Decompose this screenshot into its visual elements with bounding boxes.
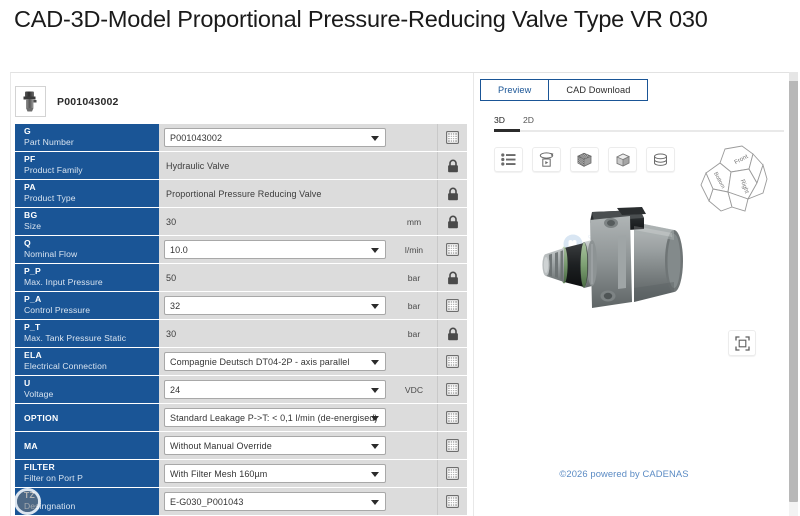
dropdown-p_a[interactable]: 32 <box>164 296 386 315</box>
page-root: CAD-3D-Model Proportional Pressure-Reduc… <box>0 0 800 516</box>
chevron-down-icon[interactable] <box>371 136 379 141</box>
unit-label <box>391 180 437 207</box>
param-code: OPTION <box>24 405 58 431</box>
chevron-down-icon[interactable] <box>371 388 379 393</box>
param-description: Nominal Flow <box>24 249 159 260</box>
table-grid-icon[interactable] <box>437 376 467 403</box>
dropdown-value: 10.0 <box>170 245 188 255</box>
chevron-down-icon[interactable] <box>371 360 379 365</box>
dropdown-value: 32 <box>170 301 180 311</box>
row-value-cell: 32 <box>159 292 391 319</box>
table-grid-icon[interactable] <box>437 404 467 431</box>
table-row: TZDesingnationE-G030_P001043 <box>15 488 467 516</box>
table-grid-icon[interactable] <box>437 348 467 375</box>
table-row: UVoltage24VDC <box>15 376 467 404</box>
table-row: GPart NumberP001043002 <box>15 124 467 152</box>
row-value-cell: P001043002 <box>159 124 391 151</box>
row-label-option: OPTION <box>15 404 159 431</box>
table-row: MAWithout Manual Override <box>15 432 467 460</box>
param-code: P_A <box>24 294 159 305</box>
unit-label: VDC <box>391 376 437 403</box>
row-label-u: UVoltage <box>15 376 159 403</box>
table-row: PFProduct FamilyHydraulic Valve <box>15 152 467 180</box>
table-row: PAProduct TypeProportional Pressure Redu… <box>15 180 467 208</box>
chevron-down-icon[interactable] <box>371 472 379 477</box>
unit-label: mm <box>391 208 437 235</box>
param-description: Voltage <box>24 389 159 400</box>
row-label-tz: TZDesingnation <box>15 488 159 515</box>
dropdown-u[interactable]: 24 <box>164 380 386 399</box>
textured-cube-icon[interactable] <box>570 147 599 172</box>
row-value-cell: Hydraulic Valve <box>159 152 391 179</box>
row-value-cell: With Filter Mesh 160µm <box>159 460 391 487</box>
scrollbar-thumb[interactable] <box>789 72 798 502</box>
unit-label: bar <box>391 292 437 319</box>
param-code: MA <box>24 433 38 459</box>
parameter-table: GPart NumberP001043002PFProduct FamilyHy… <box>15 124 467 516</box>
param-code: P_T <box>24 322 159 333</box>
row-label-filter: FILTERFilter on Port P <box>15 460 159 487</box>
dropdown-filter[interactable]: With Filter Mesh 160µm <box>164 464 386 483</box>
table-row: ELAElectrical ConnectionCompagnie Deutsc… <box>15 348 467 376</box>
row-value-cell: 30 <box>159 208 391 235</box>
row-value-cell: Proportional Pressure Reducing Valve <box>159 180 391 207</box>
subtab-active-indicator <box>494 129 520 132</box>
row-value-cell: Compagnie Deutsch DT04-2P - axis paralle… <box>159 348 391 375</box>
dropdown-value: P001043002 <box>170 133 222 143</box>
unit-label: bar <box>391 320 437 347</box>
param-description: Control Pressure <box>24 305 159 316</box>
chevron-down-icon[interactable] <box>371 304 379 309</box>
content-area: P001043002 GPart NumberP001043002PFProdu… <box>10 72 790 516</box>
dropdown-ela[interactable]: Compagnie Deutsch DT04-2P - axis paralle… <box>164 352 386 371</box>
page-scrollbar[interactable] <box>789 72 798 516</box>
tab-cad-download[interactable]: CAD Download <box>548 80 647 100</box>
table-grid-icon[interactable] <box>437 432 467 459</box>
row-value-cell: 30 <box>159 320 391 347</box>
table-grid-icon[interactable] <box>437 460 467 487</box>
param-description: Max. Tank Pressure Static <box>24 333 159 344</box>
readonly-value: Proportional Pressure Reducing Valve <box>164 189 322 199</box>
table-row: P_PMax. Input Pressure50bar <box>15 264 467 292</box>
subtab-underline <box>494 130 784 132</box>
viewer-toolbar <box>494 147 675 172</box>
valve-part-icon <box>15 86 46 117</box>
viewer-subtabs: 3D 2D <box>486 115 781 128</box>
row-label-pf: PFProduct Family <box>15 152 159 179</box>
table-row: FILTERFilter on Port PWith Filter Mesh 1… <box>15 460 467 488</box>
unit-label <box>391 404 437 431</box>
param-description: Size <box>24 221 159 232</box>
param-code: Q <box>24 238 159 249</box>
preview-panel: Preview CAD Download 3D 2D <box>473 73 791 516</box>
subtab-3d[interactable]: 3D <box>494 115 505 128</box>
dropdown-q[interactable]: 10.0 <box>164 240 386 259</box>
lock-icon <box>437 152 467 179</box>
param-description: Electrical Connection <box>24 361 159 372</box>
row-value-cell: 10.0 <box>159 236 391 263</box>
row-label-p_p: P_PMax. Input Pressure <box>15 264 159 291</box>
table-row: P_AControl Pressure32bar <box>15 292 467 320</box>
dropdown-tz[interactable]: E-G030_P001043 <box>164 492 386 511</box>
subtab-2d[interactable]: 2D <box>523 115 534 128</box>
param-description: Product Type <box>24 193 159 204</box>
row-value-cell: 24 <box>159 376 391 403</box>
part-number-label: P001043002 <box>57 96 119 108</box>
table-grid-icon[interactable] <box>437 236 467 263</box>
row-label-p_a: P_AControl Pressure <box>15 292 159 319</box>
dropdown-value: With Filter Mesh 160µm <box>170 469 267 479</box>
param-description: Filter on Port P <box>24 473 159 484</box>
viewer-tabs: Preview CAD Download <box>480 79 648 101</box>
lock-icon <box>437 320 467 347</box>
dropdown-value: 24 <box>170 385 180 395</box>
table-row: OPTIONStandard Leakage P->T: < 0,1 l/min… <box>15 404 467 432</box>
lock-icon <box>437 208 467 235</box>
part-header: P001043002 <box>15 86 119 117</box>
row-value-cell: 50 <box>159 264 391 291</box>
chevron-down-icon[interactable] <box>371 248 379 253</box>
param-code: PA <box>24 182 159 193</box>
unit-label <box>391 348 437 375</box>
param-code: G <box>24 126 159 137</box>
valve-3d-model[interactable] <box>522 196 732 331</box>
scroll-up-arrow[interactable] <box>789 72 798 81</box>
model-viewport[interactable]: QUALITY MARK MC <box>474 178 792 408</box>
param-code: ELA <box>24 350 159 361</box>
table-row: P_TMax. Tank Pressure Static30bar <box>15 320 467 348</box>
readonly-value: 30 <box>164 329 176 339</box>
row-label-pa: PAProduct Type <box>15 180 159 207</box>
dropdown-value: Standard Leakage P->T: < 0,1 l/min (de-e… <box>170 413 378 423</box>
lock-icon <box>437 264 467 291</box>
rotate-animation-icon[interactable] <box>532 147 561 172</box>
dropdown-ma[interactable]: Without Manual Override <box>164 436 386 455</box>
table-grid-icon[interactable] <box>437 124 467 151</box>
param-description: Max. Input Pressure <box>24 277 159 288</box>
param-description: Product Family <box>24 165 159 176</box>
table-row: QNominal Flow10.0l/min <box>15 236 467 264</box>
row-label-ela: ELAElectrical Connection <box>15 348 159 375</box>
dropdown-value: Compagnie Deutsch DT04-2P - axis paralle… <box>170 357 350 367</box>
param-description: Part Number <box>24 137 159 148</box>
row-label-g: GPart Number <box>15 124 159 151</box>
row-label-p_t: P_TMax. Tank Pressure Static <box>15 320 159 347</box>
dropdown-g[interactable]: P001043002 <box>164 128 386 147</box>
row-value-cell: E-G030_P001043 <box>159 488 391 515</box>
dropdown-option[interactable]: Standard Leakage P->T: < 0,1 l/min (de-e… <box>164 408 386 427</box>
unit-label: l/min <box>391 236 437 263</box>
solid-cube-icon[interactable] <box>608 147 637 172</box>
row-label-q: QNominal Flow <box>15 236 159 263</box>
list-icon[interactable] <box>494 147 523 172</box>
page-title: CAD-3D-Model Proportional Pressure-Reduc… <box>14 4 776 34</box>
param-code: FILTER <box>24 462 159 473</box>
table-grid-icon[interactable] <box>437 292 467 319</box>
readonly-value: 50 <box>164 273 176 283</box>
table-grid-icon[interactable] <box>437 488 467 515</box>
parameter-panel: P001043002 GPart NumberP001043002PFProdu… <box>11 73 473 516</box>
readonly-value: Hydraulic Valve <box>164 161 229 171</box>
tab-preview[interactable]: Preview <box>481 80 548 100</box>
param-code: BG <box>24 210 159 221</box>
row-value-cell: Standard Leakage P->T: < 0,1 l/min (de-e… <box>159 404 391 431</box>
chevron-down-icon[interactable] <box>371 416 379 421</box>
fit-to-screen-icon[interactable] <box>728 330 756 356</box>
param-code: P_P <box>24 266 159 277</box>
row-label-bg: BGSize <box>15 208 159 235</box>
param-code: U <box>24 378 159 389</box>
param-code: TZ <box>24 490 159 501</box>
chevron-down-icon[interactable] <box>371 444 379 449</box>
unit-label: bar <box>391 264 437 291</box>
chevron-down-icon[interactable] <box>371 500 379 505</box>
lock-icon <box>437 180 467 207</box>
unit-label <box>391 152 437 179</box>
readonly-value: 30 <box>164 217 176 227</box>
unit-label <box>391 460 437 487</box>
cylinder-icon[interactable] <box>646 147 675 172</box>
unit-label <box>391 432 437 459</box>
param-description: Desingnation <box>24 501 159 512</box>
unit-label <box>391 124 437 151</box>
table-row: BGSize30mm <box>15 208 467 236</box>
row-value-cell: Without Manual Override <box>159 432 391 459</box>
unit-label <box>391 488 437 515</box>
row-label-ma: MA <box>15 432 159 459</box>
cadenas-credit: ©2026 powered by CADENAS <box>474 468 774 479</box>
dropdown-value: Without Manual Override <box>170 441 272 451</box>
param-code: PF <box>24 154 159 165</box>
dropdown-value: E-G030_P001043 <box>170 497 243 507</box>
